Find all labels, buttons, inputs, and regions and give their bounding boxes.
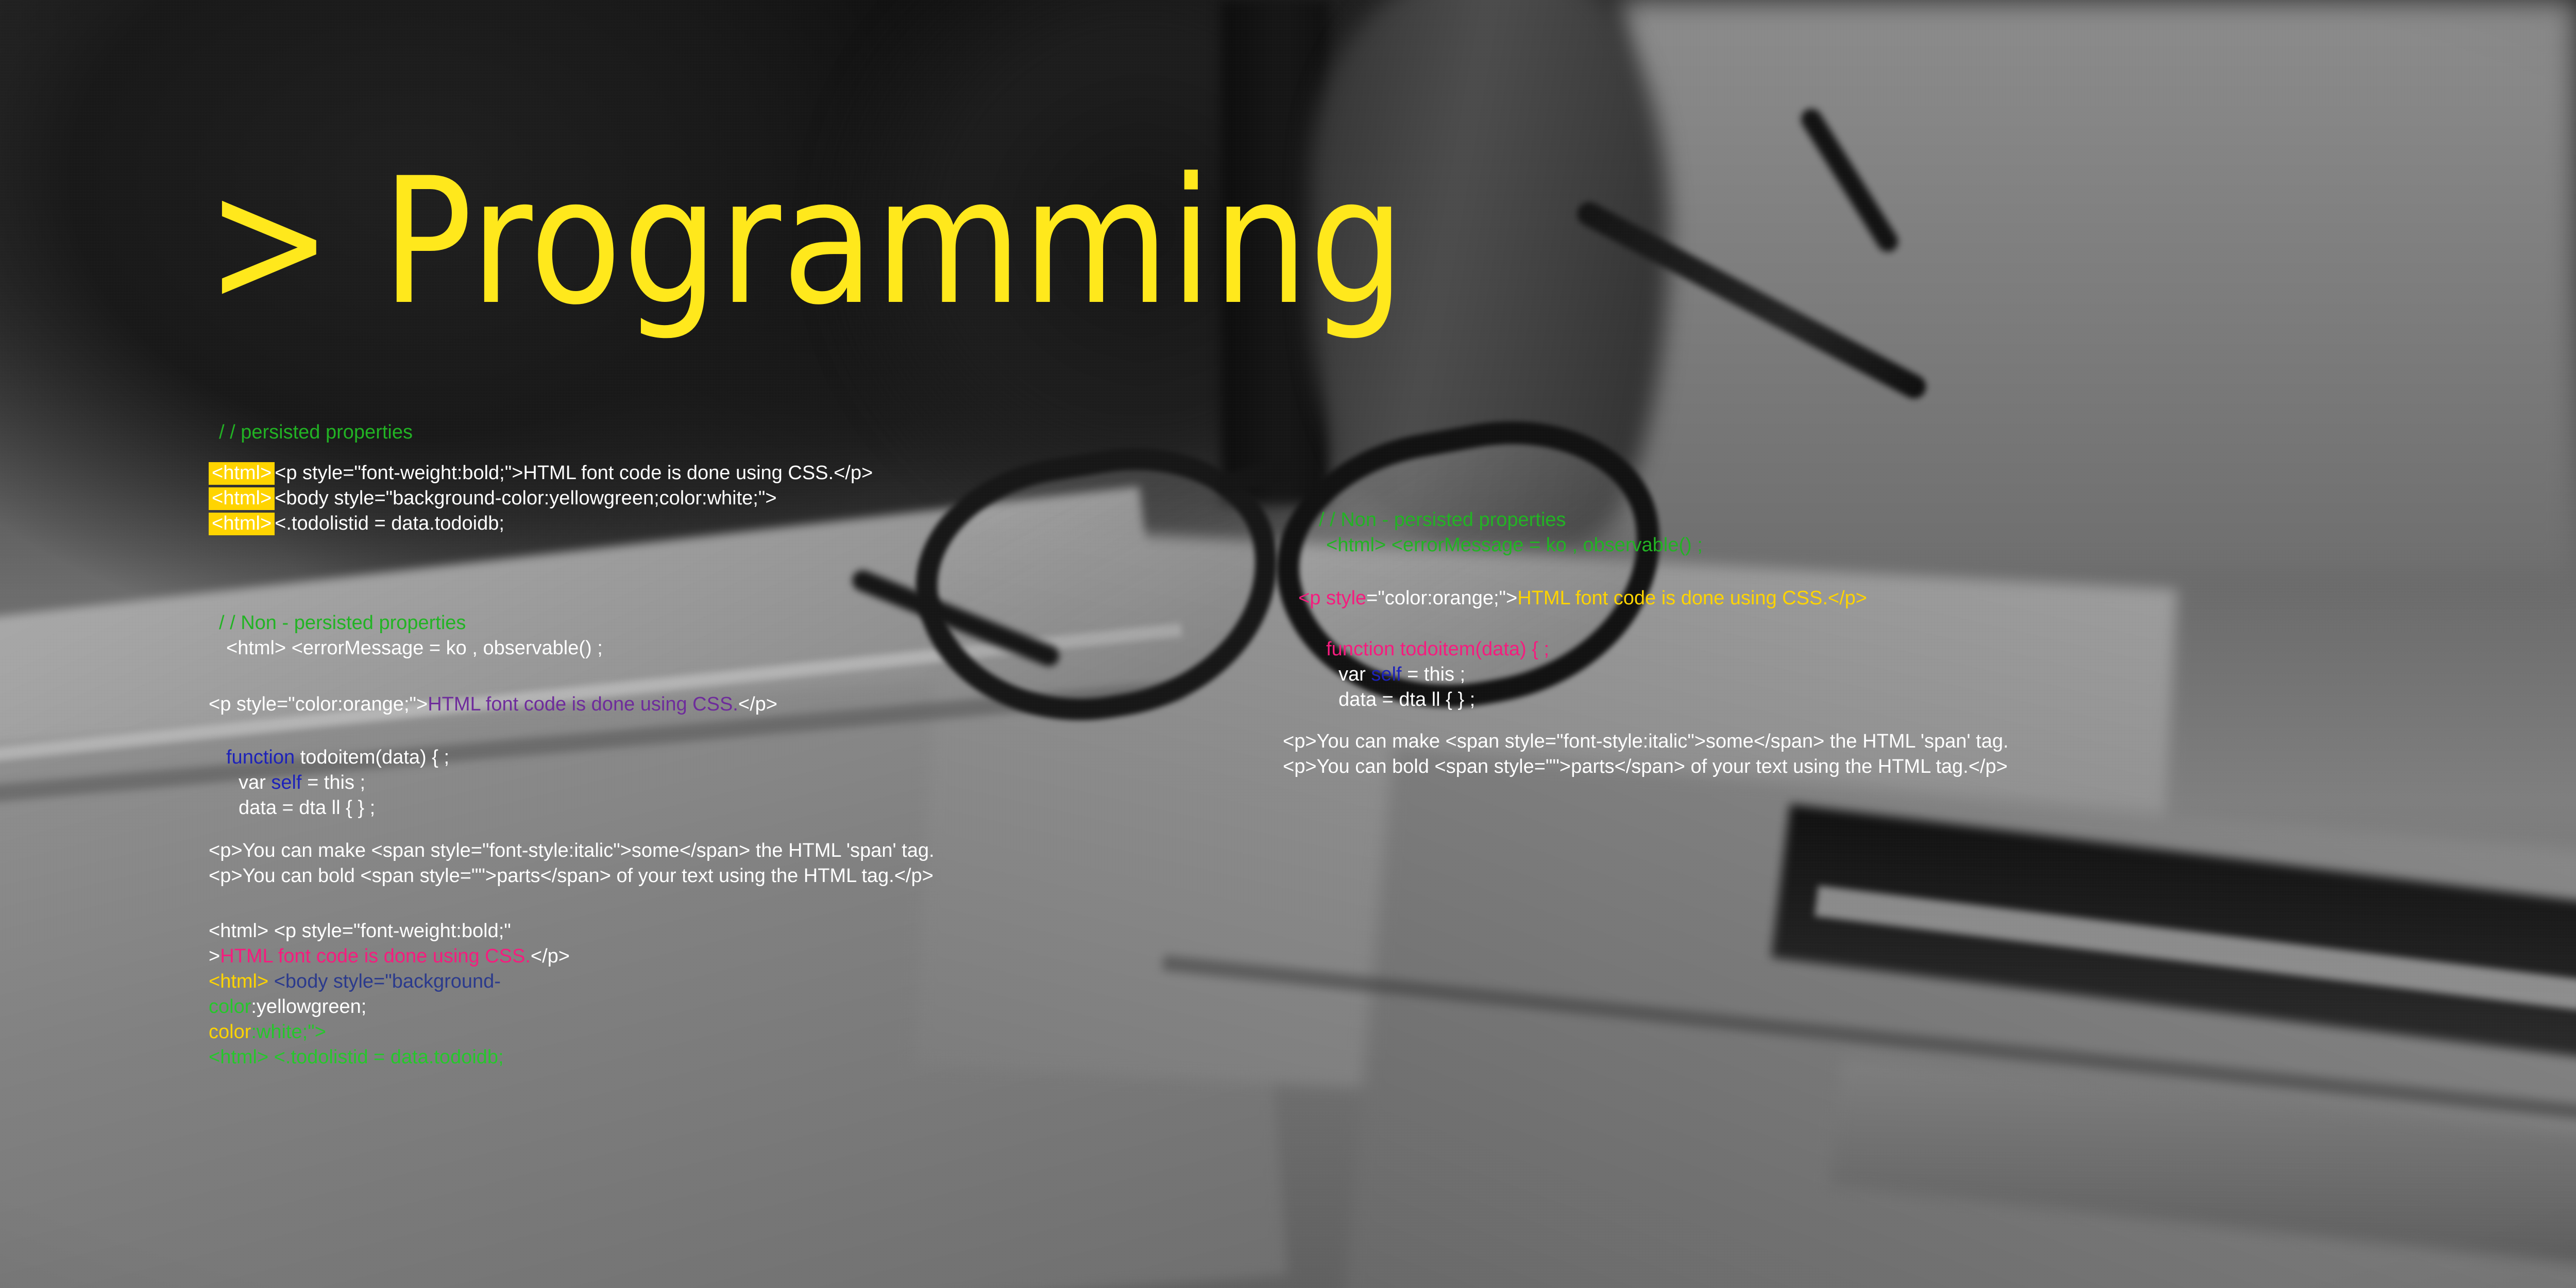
left-bottom-line-1: <html> <p style="font-weight:bold;" (209, 921, 935, 942)
left-bottom-line-3: <html> <body style="background- (209, 972, 935, 993)
html-tag-highlight: <html> (209, 462, 275, 485)
left-bottom-line-2-pink: HTML font code is done using CSS. (220, 945, 531, 967)
left-bottom-line-5-key: color (209, 1021, 251, 1043)
left-comment-non-persisted: / / Non - persisted properties (209, 613, 935, 634)
html-tag-highlight: <html> (209, 487, 275, 510)
spacer (209, 887, 935, 921)
page-title: > Programming (206, 155, 1405, 329)
right-var-name: self (1371, 664, 1401, 685)
spacer (1309, 609, 2009, 639)
left-span-line-1: <p>You can make <span style="font-style:… (209, 841, 935, 862)
left-bottom-line-5-value: :white;"> (251, 1021, 326, 1043)
right-comment-non-persisted: / / Non - persisted properties (1309, 510, 2009, 531)
spacer (209, 659, 935, 694)
left-persisted-line-3: <html><.todolistid = data.todoidb; (209, 514, 935, 535)
right-orange-middle: ="color:orange;"> (1366, 587, 1517, 609)
left-bottom-line-3-body: <body style="background- (268, 971, 501, 992)
right-var-keyword: var (1338, 664, 1366, 685)
right-error-message-line: <html> <errorMessage = ko , observable()… (1309, 535, 2009, 556)
right-var-self-line: var self = this ; (1309, 665, 2009, 686)
right-orange-prefix: <p style (1298, 587, 1366, 609)
left-orange-highlight: HTML font code is done using CSS. (428, 693, 738, 715)
left-var-rest: = this ; (307, 772, 365, 793)
right-function-signature: function todoitem(data) { ; (1309, 639, 2009, 660)
left-var-keyword: var (239, 772, 266, 793)
left-persisted-line-2-text: <body style="background-color:yellowgree… (275, 487, 776, 509)
left-bottom-line-3-tag: <html> (209, 971, 268, 992)
left-persisted-line-1-text: <p style="font-weight:bold;">HTML font c… (275, 462, 873, 484)
left-orange-prefix: <p style="color:orange;"> (209, 693, 428, 715)
left-function-keyword: function (226, 747, 295, 768)
left-orange-suffix: </p> (738, 693, 777, 715)
left-span-line-2: <p>You can bold <span style="">parts</sp… (209, 866, 935, 887)
left-bottom-line-2-suffix: </p> (531, 945, 570, 967)
left-code-column: / / persisted properties <html><p style=… (209, 422, 935, 1069)
html-tag-highlight: <html> (209, 513, 275, 535)
left-persisted-line-3-text: <.todolistid = data.todoidb; (275, 513, 504, 534)
left-var-name: self (271, 772, 301, 793)
left-bottom-line-4: color:yellowgreen; (209, 997, 935, 1018)
right-var-rest: = this ; (1407, 664, 1465, 685)
left-orange-line: <p style="color:orange;">HTML font code … (209, 694, 935, 716)
left-function-signature: function todoitem(data) { ; (209, 748, 935, 769)
slide-canvas: > Programming / / persisted properties <… (0, 0, 2576, 1288)
left-data-line: data = dta ll { } ; (209, 798, 935, 819)
right-orange-line: <p style="color:orange;">HTML font code … (1298, 588, 2009, 609)
left-bottom-line-2: >HTML font code is done using CSS.</p> (209, 946, 935, 968)
left-bottom-line-2-prefix: > (209, 945, 220, 967)
left-persisted-line-2: <html><body style="background-color:yell… (209, 488, 935, 510)
left-comment-persisted: / / persisted properties (209, 422, 935, 444)
right-span-line-2: <p>You can bold <span style="">parts</sp… (1283, 757, 2009, 778)
spacer (1309, 556, 2009, 588)
right-span-line-1: <p>You can make <span style="font-style:… (1283, 732, 2009, 753)
left-var-self-line: var self = this ; (209, 773, 935, 794)
left-persisted-line-1: <html><p style="font-weight:bold;">HTML … (209, 463, 935, 484)
spacer (209, 444, 935, 463)
right-code-column: / / Non - persisted properties <html> <e… (1309, 510, 2009, 778)
slide-content: > Programming / / persisted properties <… (0, 0, 2576, 1288)
spacer (209, 535, 935, 613)
left-function-signature-text: todoitem(data) { ; (295, 747, 449, 768)
left-bottom-line-4-key: color (209, 996, 251, 1018)
spacer (209, 819, 935, 841)
left-bottom-line-4-value: :yellowgreen; (251, 996, 366, 1018)
left-error-message-line: <html> <errorMessage = ko , observable()… (209, 638, 935, 659)
right-data-line: data = dta ll { } ; (1309, 690, 2009, 711)
right-orange-highlight: HTML font code is done using CSS.</p> (1517, 587, 1867, 609)
left-bottom-line-5: color:white;"> (209, 1022, 935, 1043)
left-bottom-line-6: <html> <.todolistid = data.todoidb; (209, 1047, 935, 1069)
spacer (1309, 711, 2009, 732)
spacer (209, 716, 935, 748)
